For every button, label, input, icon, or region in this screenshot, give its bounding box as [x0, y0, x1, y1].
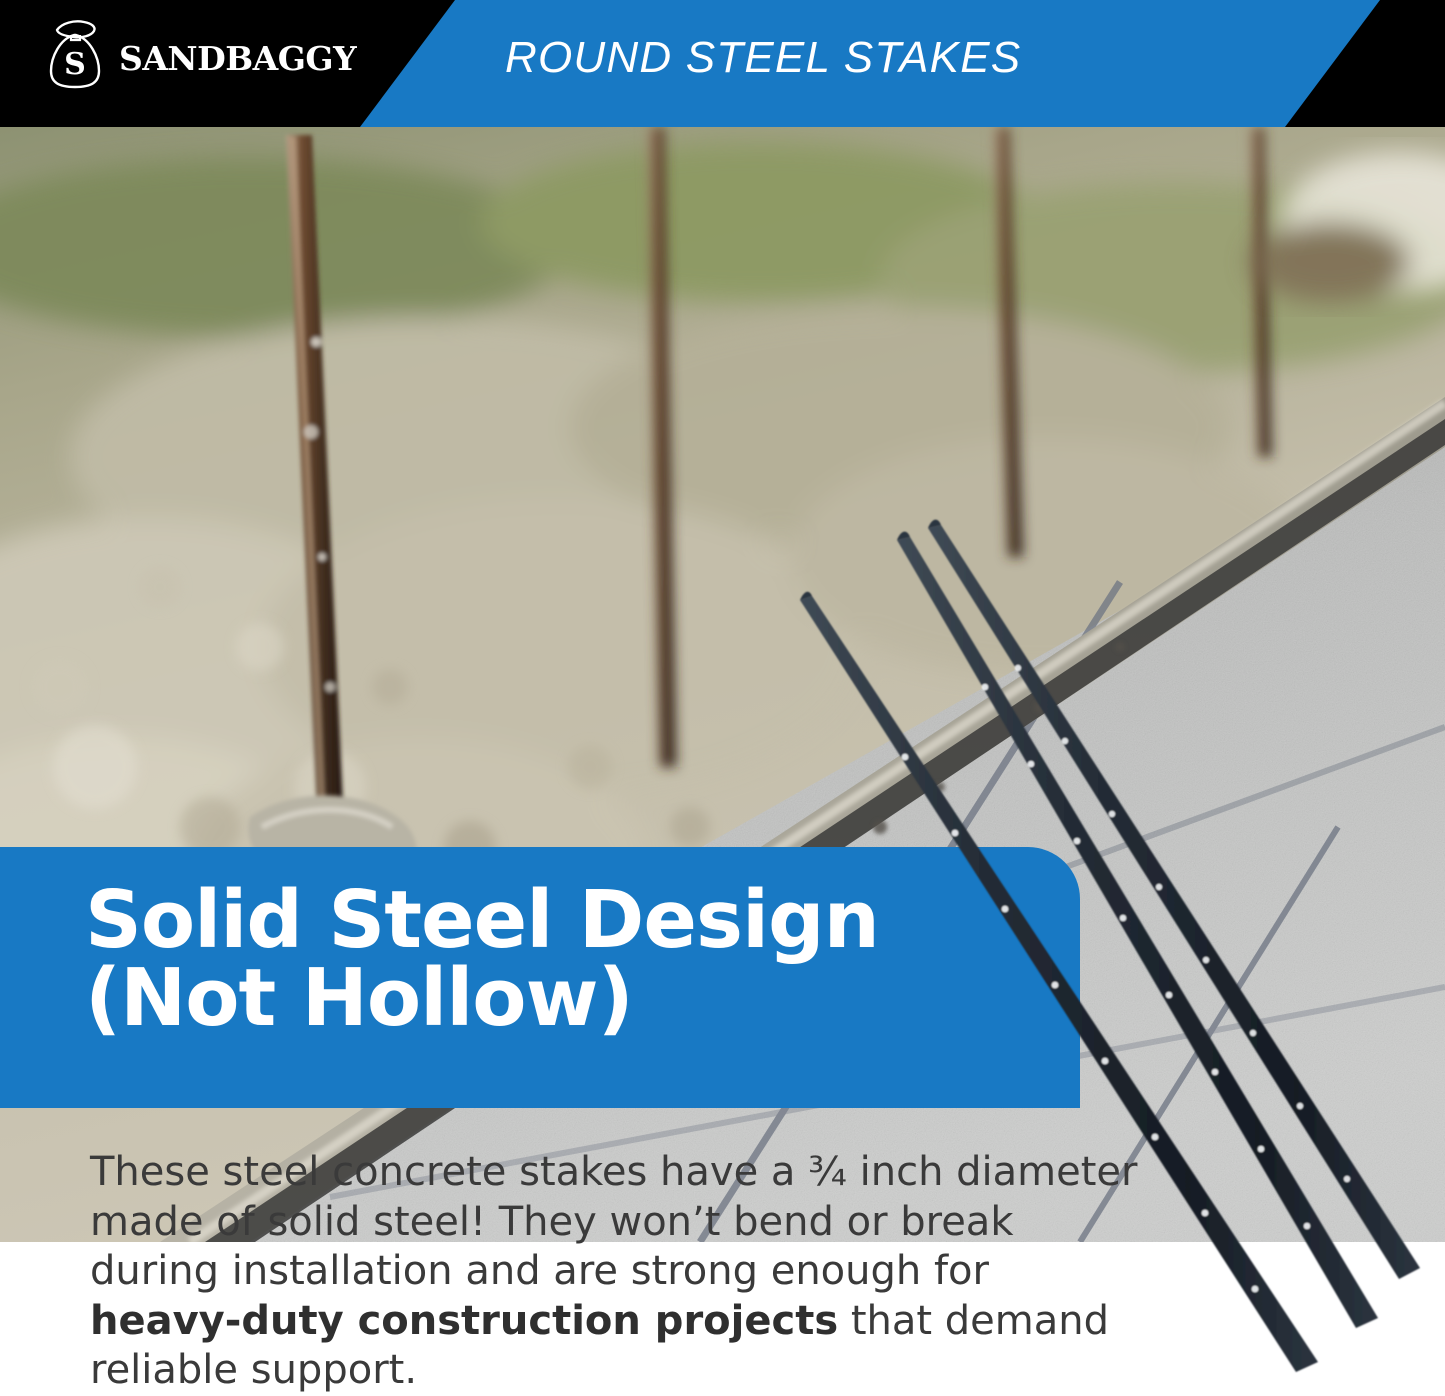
description-emphasis: heavy-duty construction projects: [90, 1298, 838, 1344]
svg-text:S: S: [64, 47, 86, 82]
headline-callout: Solid Steel Design (Not Hollow): [0, 847, 1080, 1108]
brand-logo-text: SANDBAGGY: [119, 31, 356, 78]
brand-logo[interactable]: S SANDBAGGY: [44, 17, 356, 91]
description-part-1: These steel concrete stakes have a ¾ inc…: [90, 1149, 1137, 1294]
product-description: These steel concrete stakes have a ¾ inc…: [90, 1148, 1150, 1396]
headline-text: Solid Steel Design (Not Hollow): [85, 881, 879, 1037]
page-header: S SANDBAGGY ROUND STEEL STAKES: [0, 0, 1445, 127]
sandbag-icon: S: [44, 17, 106, 91]
header-title: ROUND STEEL STAKES: [505, 33, 1021, 83]
